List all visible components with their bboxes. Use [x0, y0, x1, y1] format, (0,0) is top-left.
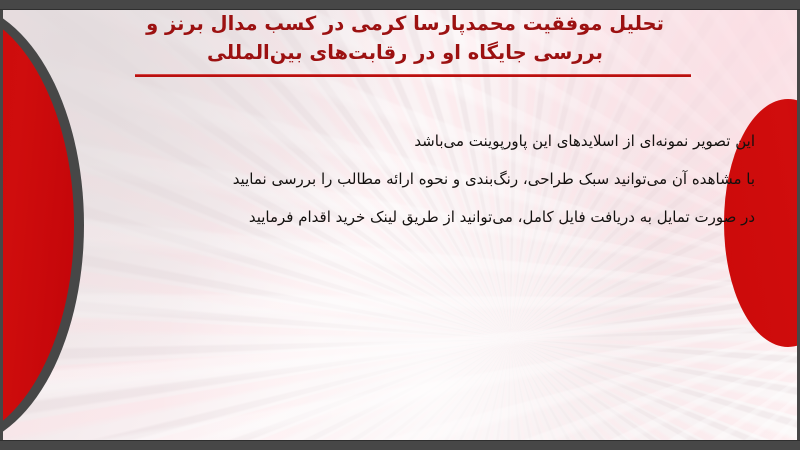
slide-title-line-2: بررسی جایگاه او در رقابت‌های بین‌المللی: [110, 38, 700, 67]
body-line-3: در صورت تمایل به دریافت فایل کامل، می‌تو…: [233, 198, 755, 236]
frame-band-left: [0, 0, 3, 450]
slide-content: تحلیل موفقیت محمدپارسا کرمی در کسب مدال …: [0, 0, 800, 450]
slide-title-line-1: تحلیل موفقیت محمدپارسا کرمی در کسب مدال …: [110, 9, 700, 38]
slide-body-text: این تصویر نمونه‌ای از اسلایدهای این پاور…: [233, 122, 755, 236]
presentation-slide: تحلیل موفقیت محمدپارسا کرمی در کسب مدال …: [0, 0, 800, 450]
frame-band-bottom: [0, 441, 800, 450]
frame-edge-top: [0, 9, 800, 10]
slide-title: تحلیل موفقیت محمدپارسا کرمی در کسب مدال …: [110, 9, 700, 67]
frame-band-top: [0, 0, 800, 9]
body-line-1: این تصویر نمونه‌ای از اسلایدهای این پاور…: [233, 122, 755, 160]
body-line-2: با مشاهده آن می‌توانید سبک طراحی، رنگ‌بن…: [233, 160, 755, 198]
frame-edge-bottom: [0, 440, 800, 441]
title-underline-rule: [135, 74, 691, 77]
